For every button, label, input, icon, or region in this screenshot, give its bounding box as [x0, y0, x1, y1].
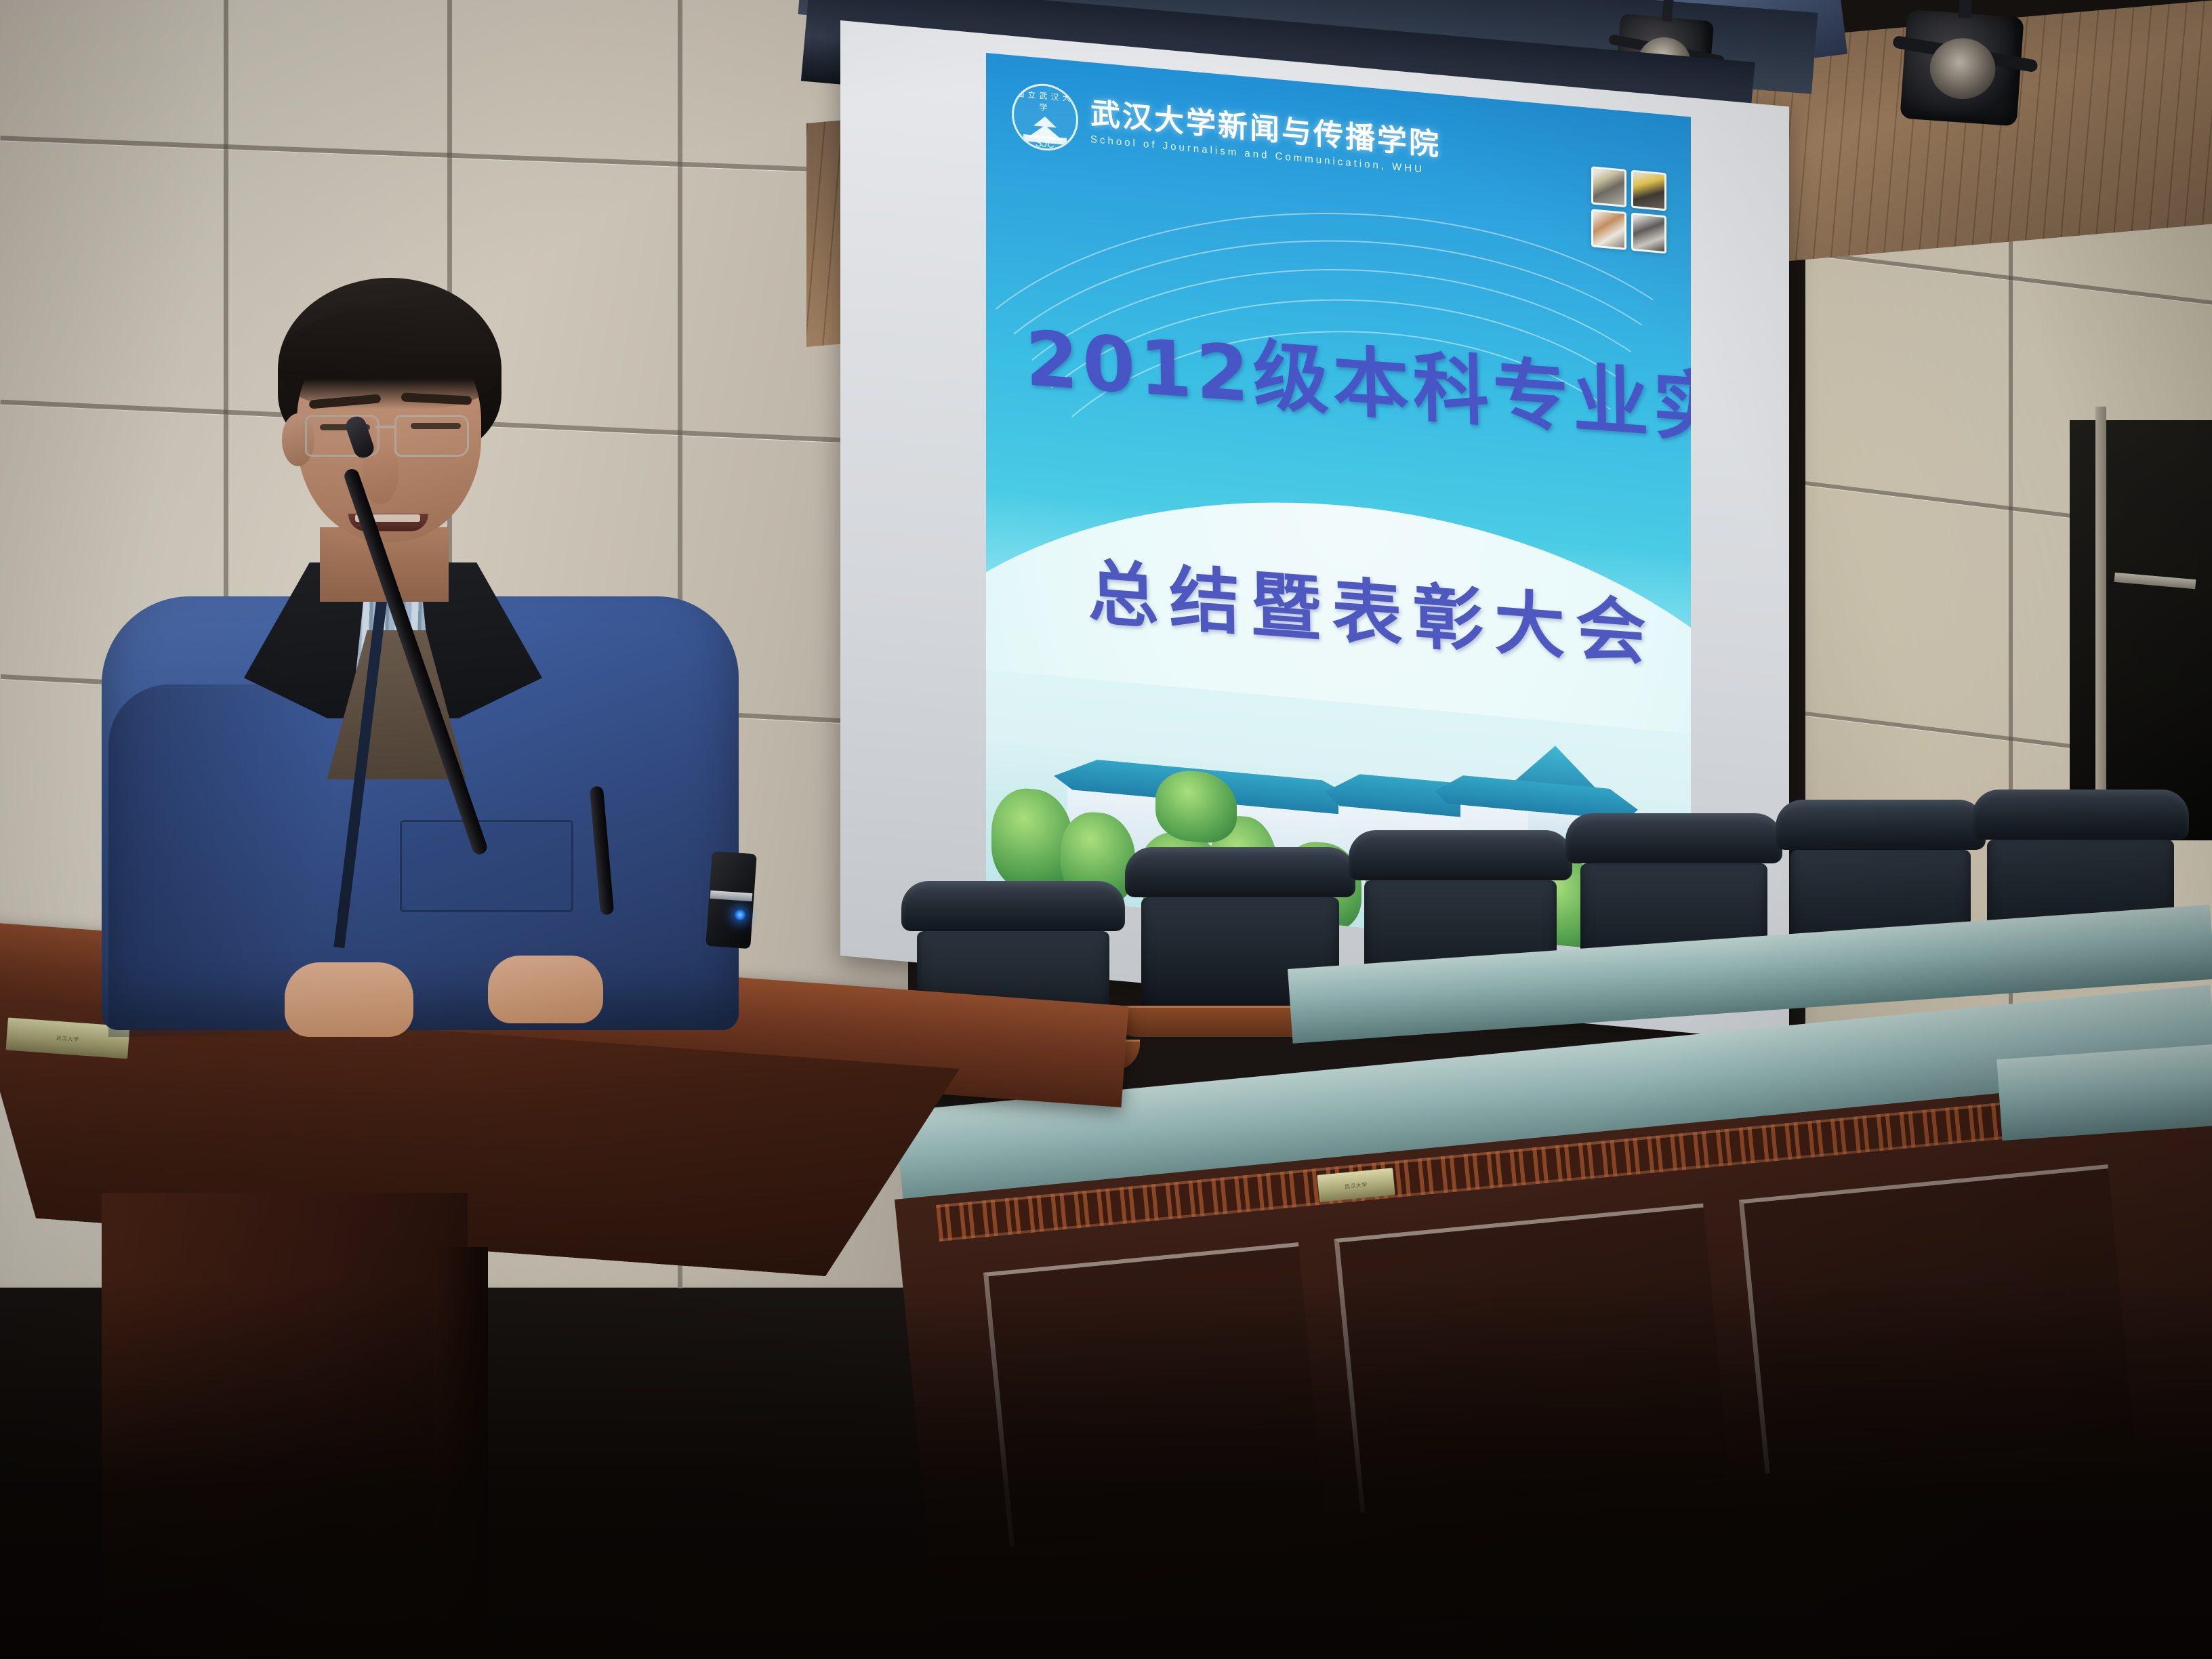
table-plaque-text: 武汉大学: [1345, 1180, 1368, 1189]
speaker-left-hand: [285, 962, 413, 1037]
speaker-right-hand: [488, 956, 603, 1023]
crest-monogram: SJC: [1014, 136, 1076, 152]
conference-hall-photo: 国立武汉大学 SJC 武汉大学新闻与传播学院 School of Journal…: [0, 0, 2212, 1659]
microphone-power-led: [735, 909, 745, 920]
podium-plaque-text: 武汉大学: [56, 1033, 80, 1043]
thumbnail-1: [1591, 166, 1626, 207]
doorway: [2070, 420, 2212, 840]
door-frame: [2095, 407, 2106, 854]
photo-thumbnail-grid: [1591, 166, 1666, 253]
thumbnail-3: [1591, 209, 1626, 250]
speaker: [81, 278, 806, 1010]
jacket-chest-pocket: [400, 820, 573, 912]
stage-spotlight: [1900, 9, 2024, 127]
thumbnail-4: [1631, 213, 1666, 254]
university-crest-icon: 国立武汉大学 SJC: [1012, 81, 1078, 153]
thumbnail-2: [1631, 170, 1666, 211]
crest-arc-text: 国立武汉大学: [1014, 87, 1076, 116]
